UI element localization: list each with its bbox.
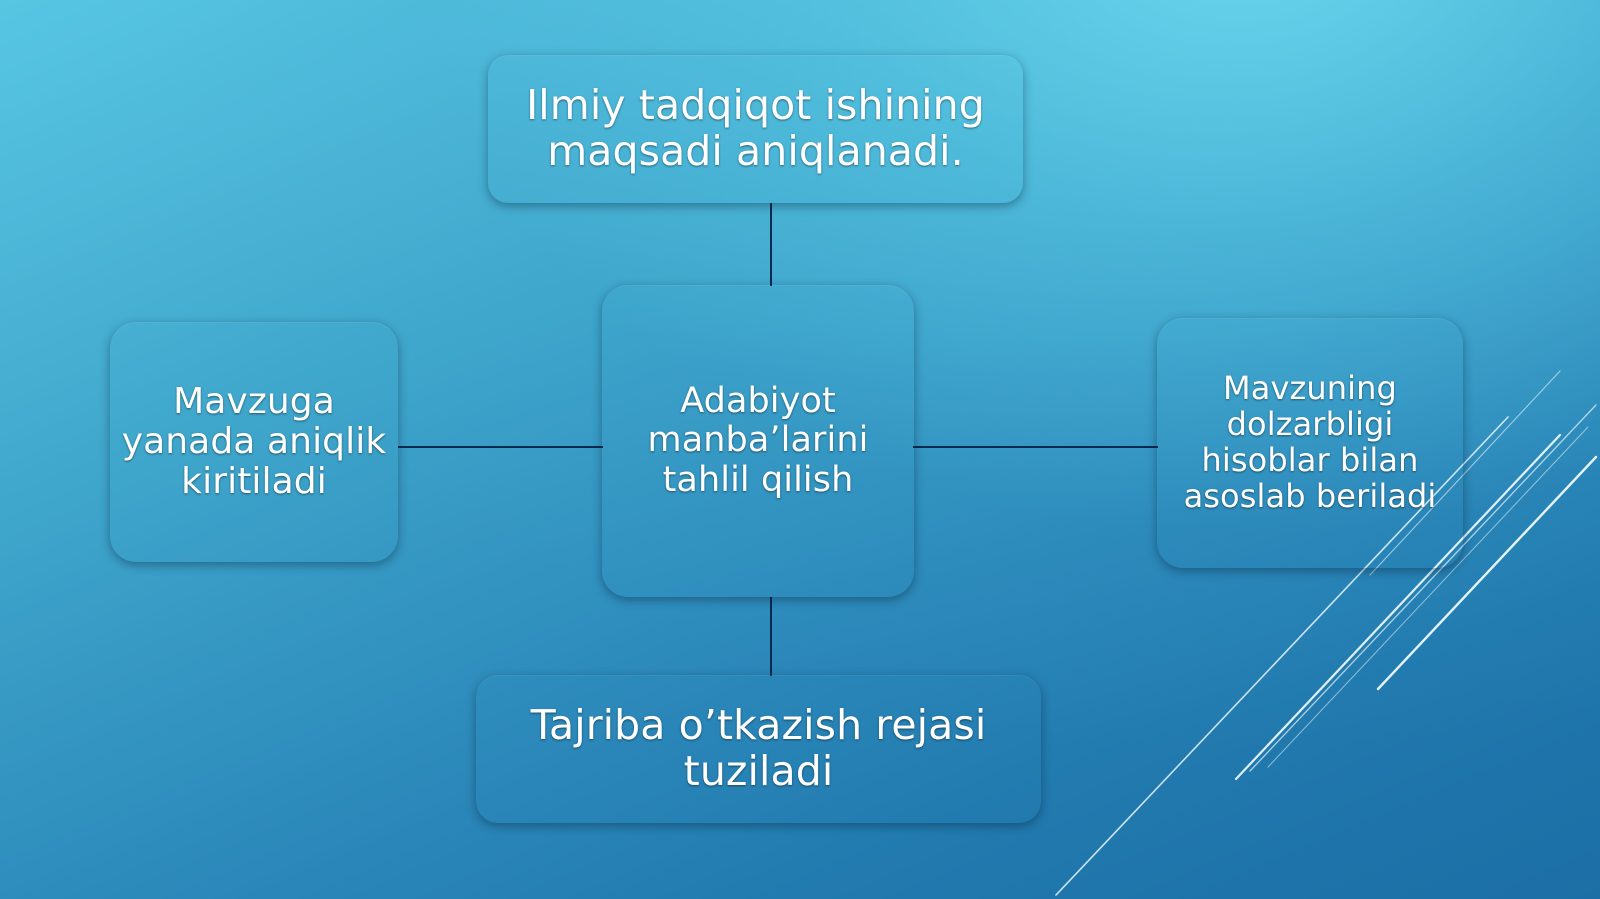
connector-center-to-top — [770, 203, 772, 286]
connector-center-to-bottom — [770, 597, 772, 676]
node-center-label: Adabiyot manba’larini tahlil qilish — [612, 382, 904, 500]
node-left-label: Mavzuga yanada aniqlik kiritiladi — [120, 382, 388, 503]
node-top-label: Ilmiy tadqiqot ishining maqsadi aniqlana… — [498, 83, 1013, 175]
node-top[interactable]: Ilmiy tadqiqot ishining maqsadi aniqlana… — [488, 55, 1023, 203]
node-right-label: Mavzuning dolzarbligi hisoblar bilan aso… — [1167, 371, 1453, 514]
node-right[interactable]: Mavzuning dolzarbligi hisoblar bilan aso… — [1157, 318, 1463, 568]
node-left[interactable]: Mavzuga yanada aniqlik kiritiladi — [110, 322, 398, 562]
connector-center-to-right — [913, 446, 1158, 448]
node-center[interactable]: Adabiyot manba’larini tahlil qilish — [602, 285, 914, 597]
connector-center-to-left — [398, 446, 603, 448]
node-bottom[interactable]: Tajriba o’tkazish rejasi tuziladi — [476, 675, 1041, 823]
slide-canvas: Ilmiy tadqiqot ishining maqsadi aniqlana… — [0, 0, 1600, 899]
node-bottom-label: Tajriba o’tkazish rejasi tuziladi — [486, 703, 1031, 795]
